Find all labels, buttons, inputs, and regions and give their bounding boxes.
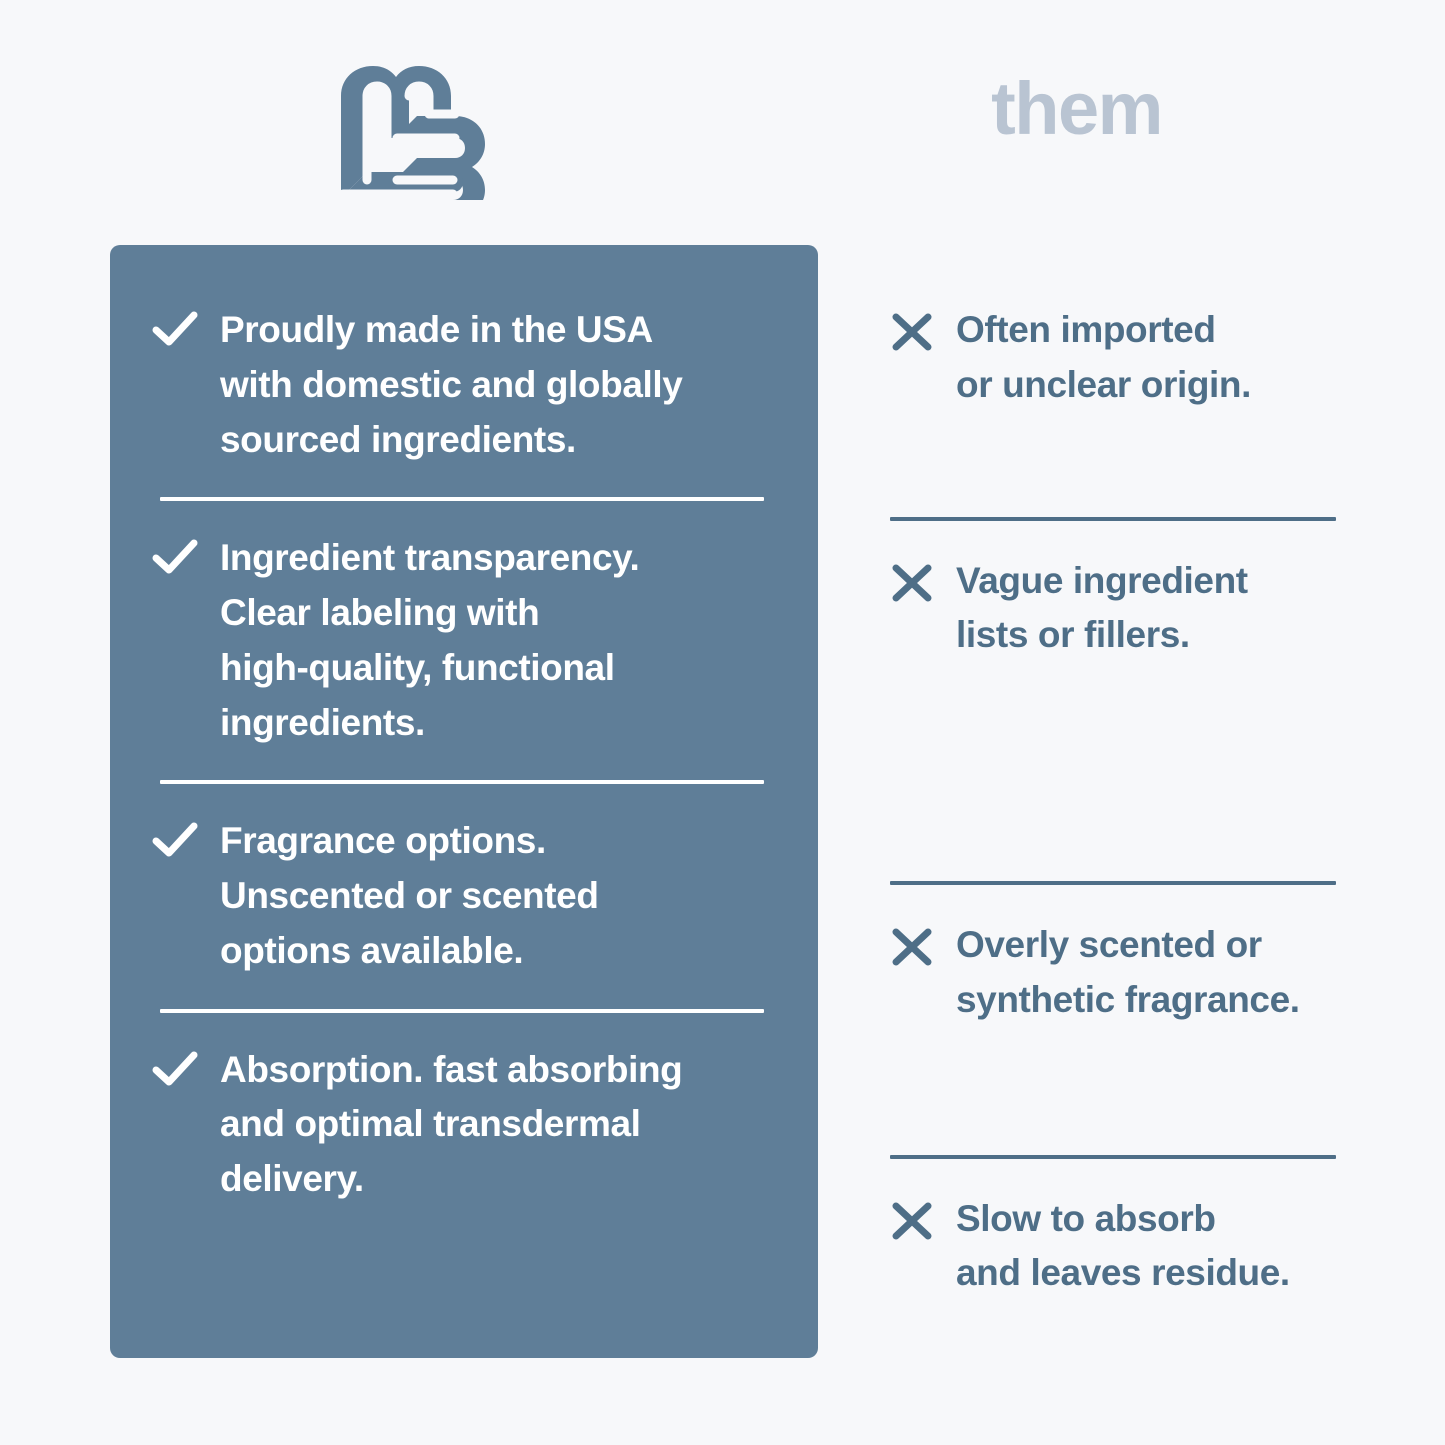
close-icon xyxy=(890,554,934,603)
brand-divider xyxy=(160,780,764,784)
mb-monogram-logo xyxy=(333,62,485,202)
them-drawback-row: Vague ingredient lists or fillers. xyxy=(890,554,1336,664)
them-drawback-row: Overly scented or synthetic fragrance. xyxy=(890,918,1336,1028)
close-icon xyxy=(890,303,934,352)
them-drawback-text: Often imported or unclear origin. xyxy=(956,303,1251,413)
brand-benefit-row: Absorption. fast absorbing and optimal t… xyxy=(152,1043,776,1207)
check-icon xyxy=(152,303,198,347)
check-icon xyxy=(152,531,198,575)
brand-benefits-card: Proudly made in the USA with domestic an… xyxy=(110,245,818,1358)
check-icon xyxy=(152,814,198,858)
brand-benefit-text: Fragrance options. Unscented or scented … xyxy=(220,814,599,978)
brand-divider xyxy=(160,1009,764,1013)
them-title: them xyxy=(991,72,1162,146)
brand-header xyxy=(0,0,818,202)
them-drawback-text: Overly scented or synthetic fragrance. xyxy=(956,918,1300,1028)
them-header: them xyxy=(818,0,1445,146)
header: them xyxy=(0,0,1445,245)
them-drawback-row: Often imported or unclear origin. xyxy=(890,303,1336,413)
them-drawback-row: Slow to absorb and leaves residue. xyxy=(890,1192,1336,1302)
brand-divider xyxy=(160,497,764,501)
brand-benefit-row: Fragrance options. Unscented or scented … xyxy=(152,814,776,978)
check-icon xyxy=(152,1043,198,1087)
them-drawback-text: Slow to absorb and leaves residue. xyxy=(956,1192,1290,1302)
brand-benefit-text: Proudly made in the USA with domestic an… xyxy=(220,303,682,467)
comparison-infographic: them Proudly made in the USA with domest… xyxy=(0,0,1445,1445)
brand-benefit-text: Absorption. fast absorbing and optimal t… xyxy=(220,1043,682,1207)
close-icon xyxy=(890,918,934,967)
brand-benefit-row: Proudly made in the USA with domestic an… xyxy=(152,303,776,467)
comparison-columns: Proudly made in the USA with domestic an… xyxy=(0,245,1445,1445)
them-drawback-text: Vague ingredient lists or fillers. xyxy=(956,554,1248,664)
close-icon xyxy=(890,1192,934,1241)
brand-benefit-text: Ingredient transparency. Clear labeling … xyxy=(220,531,639,750)
brand-benefit-row: Ingredient transparency. Clear labeling … xyxy=(152,531,776,750)
them-drawbacks-column: Often imported or unclear origin. Vague … xyxy=(890,245,1336,1358)
